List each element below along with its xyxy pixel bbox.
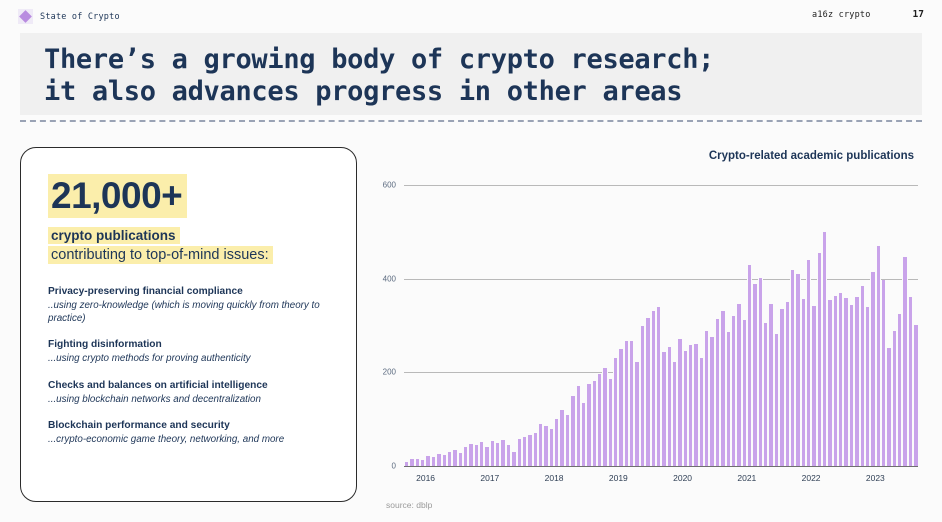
list-item: Privacy-preserving financial compliance … (48, 285, 332, 325)
bullet-desc: ..using zero-knowledge (which is moving … (48, 299, 332, 325)
x-tick-label: 2019 (609, 473, 628, 483)
chart-bars (404, 185, 918, 466)
slide-page: State of Crypto a16z crypto 17 There’s a… (0, 0, 942, 522)
title-line-2: it also advances progress in other areas (44, 76, 922, 108)
chart-plot-area: 0200400600 (404, 185, 918, 466)
list-item: Blockchain performance and security ...c… (48, 419, 332, 446)
x-tick-label: 2016 (416, 473, 435, 483)
page-number: 17 (913, 9, 924, 20)
title-divider (20, 120, 922, 122)
bullet-desc: ...using blockchain networks and decentr… (48, 393, 332, 406)
header-right: a16z crypto 17 (812, 9, 924, 20)
y-tick-label: 0 (392, 462, 396, 471)
y-tick-label: 200 (383, 368, 396, 377)
list-item: Checks and balances on artificial intell… (48, 379, 332, 406)
list-item: Fighting disinformation ...using crypto … (48, 338, 332, 365)
y-tick-label: 400 (383, 274, 396, 283)
x-tick-label: 2020 (673, 473, 692, 483)
bullet-desc: ...using crypto methods for proving auth… (48, 352, 332, 365)
page-title: There’s a growing body of crypto researc… (20, 33, 922, 115)
org-label: a16z crypto (812, 10, 871, 20)
x-tick-label: 2023 (866, 473, 885, 483)
stat-card: 21,000+ crypto publications contributing… (20, 147, 357, 502)
x-tick-label: 2022 (802, 473, 821, 483)
bullet-list: Privacy-preserving financial compliance … (48, 285, 332, 446)
x-tick-label: 2018 (545, 473, 564, 483)
x-tick-label: 2017 (480, 473, 499, 483)
chart-title: Crypto-related academic publications (709, 150, 914, 162)
brand: State of Crypto (18, 9, 120, 24)
chart-source: source: dblp (386, 500, 432, 510)
chart: Crypto-related academic publications 020… (372, 145, 927, 520)
bullet-title: Blockchain performance and security (48, 419, 332, 433)
stat-number: 21,000+ (48, 174, 187, 218)
chart-x-axis: 20162017201820192020202120222023 (404, 473, 918, 489)
slide-header: State of Crypto a16z crypto 17 (0, 0, 942, 32)
y-tick-label: 600 (383, 181, 396, 190)
stat-subtitle: contributing to top-of-mind issues: (48, 246, 273, 264)
x-tick-label: 2021 (737, 473, 756, 483)
bullet-desc: ...crypto-economic game theory, networki… (48, 433, 332, 446)
bullet-title: Checks and balances on artificial intell… (48, 379, 332, 393)
title-line-1: There’s a growing body of crypto researc… (44, 44, 922, 76)
brand-label: State of Crypto (40, 12, 120, 22)
bullet-title: Fighting disinformation (48, 338, 332, 352)
bar (913, 325, 918, 466)
bullet-title: Privacy-preserving financial compliance (48, 285, 332, 299)
diamond-logo-icon (18, 9, 33, 24)
gridline-0: 0 (404, 466, 918, 467)
stat-subtitle-bold: crypto publications (48, 227, 180, 244)
